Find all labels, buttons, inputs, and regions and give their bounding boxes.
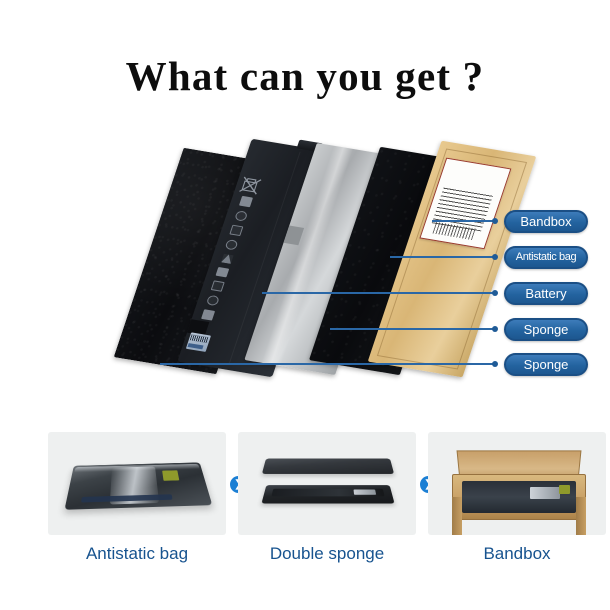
step-caption-double-sponge: Double sponge xyxy=(238,544,416,564)
crossed-out-wheelie-bin-icon xyxy=(237,174,265,197)
qc-sticker xyxy=(559,485,570,494)
cert-mark-icon xyxy=(206,295,220,306)
box-base xyxy=(452,474,586,520)
packaging-steps-strip: Antistatic bag ❯ Double sponge ❯ Bandbox xyxy=(0,432,610,592)
recycle-icon xyxy=(234,210,248,221)
battery-between-sponges xyxy=(271,489,384,497)
ce-mark-icon xyxy=(225,239,239,250)
callout-label-sponge-inner[interactable]: Sponge xyxy=(504,318,588,341)
sponge-top-photo xyxy=(262,459,394,474)
exploded-view-diagram xyxy=(0,130,610,420)
callout-label-sponge-outer[interactable]: Sponge xyxy=(504,353,588,376)
box-contents xyxy=(462,481,576,513)
callout-label-battery[interactable]: Battery xyxy=(504,282,588,305)
qc-sticker xyxy=(162,470,179,481)
cert-mark-icon xyxy=(229,224,243,235)
antistatic-bag-photo xyxy=(64,462,212,509)
cert-mark-icon xyxy=(215,266,229,277)
step-thumbnail-bandbox[interactable] xyxy=(428,432,606,535)
step-caption-antistatic-bag: Antistatic bag xyxy=(48,544,226,564)
step-thumbnail-antistatic-bag[interactable] xyxy=(48,432,226,535)
cert-mark-icon xyxy=(211,281,225,292)
battery-in-box xyxy=(530,487,560,499)
sponge-bottom-photo xyxy=(261,485,394,503)
step-caption-bandbox: Bandbox xyxy=(428,544,606,564)
page-title: What can you get ? xyxy=(0,52,610,100)
callout-label-antistatic-bag[interactable]: Antistatic bag xyxy=(504,246,588,269)
bandbox-photo xyxy=(452,450,584,518)
box-flap-left xyxy=(452,497,462,535)
cert-mark-icon xyxy=(201,309,215,320)
cert-mark-icon xyxy=(239,196,253,207)
box-flap-right xyxy=(576,497,586,535)
battery-barcode-label xyxy=(186,332,211,352)
step-thumbnail-double-sponge[interactable] xyxy=(238,432,416,535)
callout-label-bandbox[interactable]: Bandbox xyxy=(504,210,588,233)
cert-mark-icon xyxy=(221,253,234,263)
